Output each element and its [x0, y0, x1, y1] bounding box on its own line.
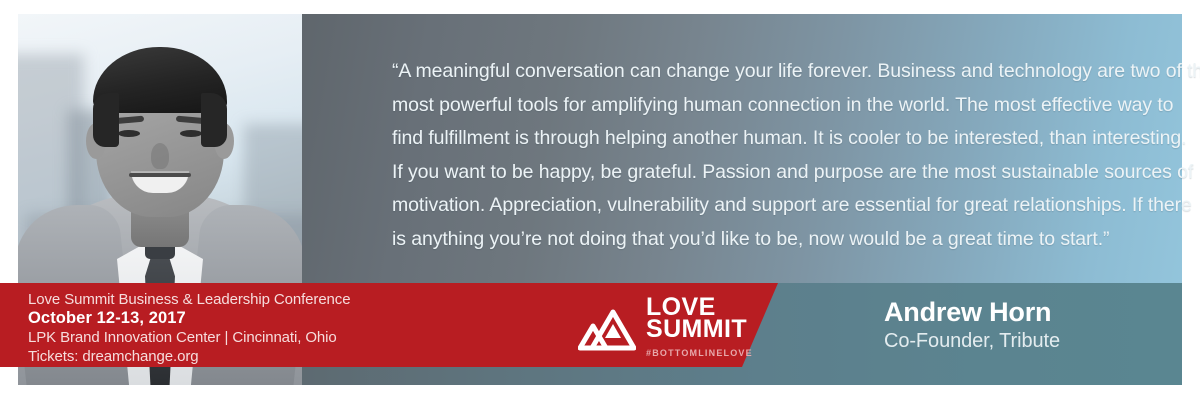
photo-subject-eye-right — [180, 130, 202, 137]
logo-word-summit: SUMMIT — [646, 318, 753, 340]
speaker-name: Andrew Horn — [884, 296, 1060, 328]
photo-subject-hair-side-left — [93, 93, 119, 147]
quote-line: most powerful tools for amplifying human… — [392, 89, 1132, 123]
quote-text: “A meaningful conversation can change yo… — [392, 55, 1132, 256]
conference-speaker-banner: “A meaningful conversation can change yo… — [0, 0, 1200, 400]
photo-subject-eye-left — [118, 130, 140, 137]
conference-dates: October 12-13, 2017 — [28, 309, 350, 328]
conference-details: Love Summit Business & Leadership Confer… — [28, 290, 350, 366]
quote-line: If you want to be happy, be grateful. Pa… — [392, 156, 1132, 190]
quote-line: find fulfillment is through helping anot… — [392, 122, 1132, 156]
conference-name: Love Summit Business & Leadership Confer… — [28, 290, 350, 309]
logo-tagline: #BOTTOMLINELOVE — [646, 342, 753, 364]
photo-subject-hair-side-right — [201, 93, 227, 147]
mountain-icon — [578, 308, 636, 352]
logo-wordmark: LOVE SUMMIT #BOTTOMLINELOVE — [646, 296, 753, 364]
conference-venue: LPK Brand Innovation Center | Cincinnati… — [28, 328, 350, 347]
love-summit-logo[interactable]: LOVE SUMMIT #BOTTOMLINELOVE — [578, 296, 753, 364]
photo-subject-upper-lip — [129, 173, 191, 177]
speaker-attribution: Andrew Horn Co-Founder, Tribute — [884, 296, 1060, 354]
quote-line: motivation. Appreciation, vulnerability … — [392, 189, 1132, 223]
photo-subject-nose — [151, 143, 169, 169]
quote-line: “A meaningful conversation can change yo… — [392, 55, 1132, 89]
quote-line: is anything you’re not doing that you’d … — [392, 223, 1132, 257]
conference-tickets: Tickets: dreamchange.org — [28, 347, 350, 366]
speaker-role: Co-Founder, Tribute — [884, 328, 1060, 354]
